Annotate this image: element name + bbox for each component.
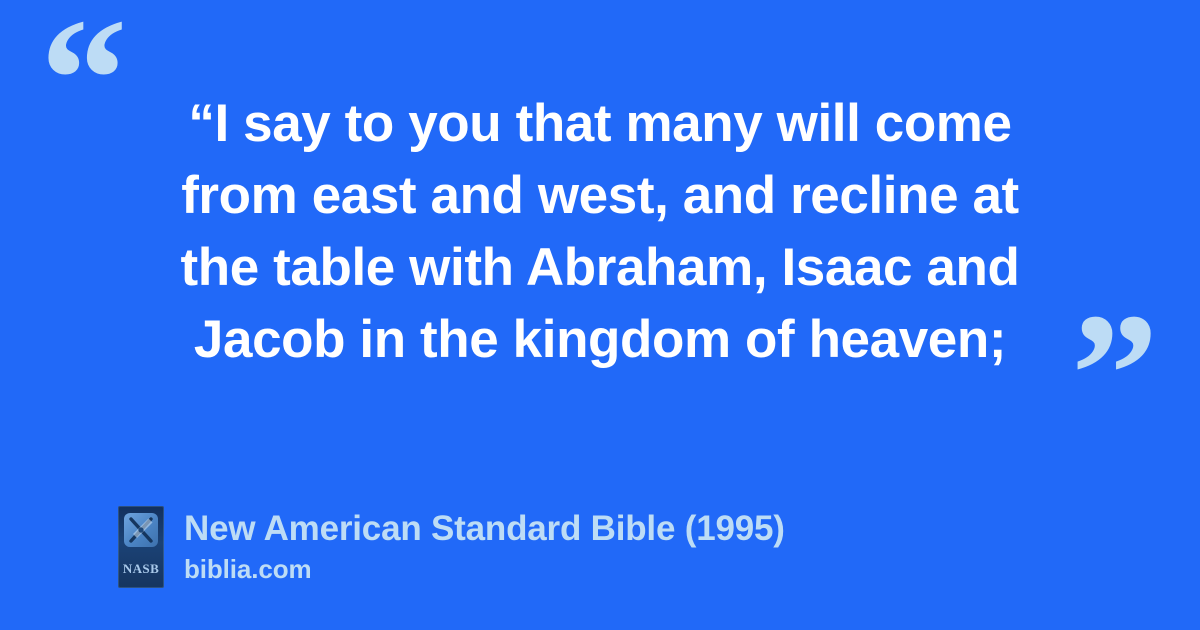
quote-line: Jacob in the kingdom of heaven; <box>60 304 1140 376</box>
footer: NASB New American Standard Bible (1995) … <box>118 506 785 588</box>
quote-line: the table with Abraham, Isaac and <box>60 232 1140 304</box>
quote-line: “I say to you that many will come <box>60 88 1140 160</box>
attribution-label: New American Standard Bible (1995) <box>184 508 785 550</box>
logo-tile <box>124 513 158 547</box>
quote-card: “ ” “I say to you that many will come fr… <box>0 0 1200 630</box>
site-url-label[interactable]: biblia.com <box>184 554 785 584</box>
quote-text-block: “I say to you that many will come from e… <box>60 88 1140 376</box>
footer-text: New American Standard Bible (1995) bibli… <box>184 506 785 584</box>
nasb-logo-icon: NASB <box>118 506 164 588</box>
logo-wordmark: NASB <box>118 562 164 575</box>
quote-line: from east and west, and recline at <box>60 160 1140 232</box>
